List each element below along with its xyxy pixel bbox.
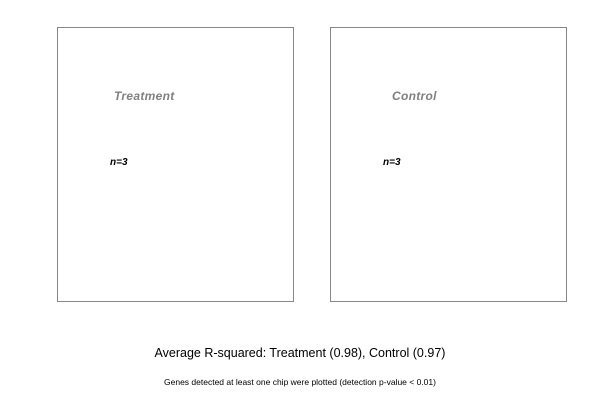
plot-area-control [330, 27, 567, 302]
n-label-control: n=3 [383, 157, 401, 168]
plot-area-treatment [57, 27, 294, 302]
n-label-treatment: n=3 [110, 157, 128, 168]
plot-canvas-control [331, 28, 566, 301]
panel-title-treatment: Treatment [114, 89, 175, 103]
panel-treatment: Treatment n=3 [57, 27, 294, 302]
plot-canvas-treatment [58, 28, 293, 301]
caption-average-r-squared: Average R-squared: Treatment (0.98), Con… [0, 346, 600, 360]
panel-title-control: Control [392, 89, 437, 103]
caption-detection-note: Genes detected at least one chip were pl… [0, 377, 600, 387]
panel-control: Control n=3 [330, 27, 567, 302]
scatter-figure: Treatment n=3 Control n=3 Average R-squa… [0, 0, 600, 400]
